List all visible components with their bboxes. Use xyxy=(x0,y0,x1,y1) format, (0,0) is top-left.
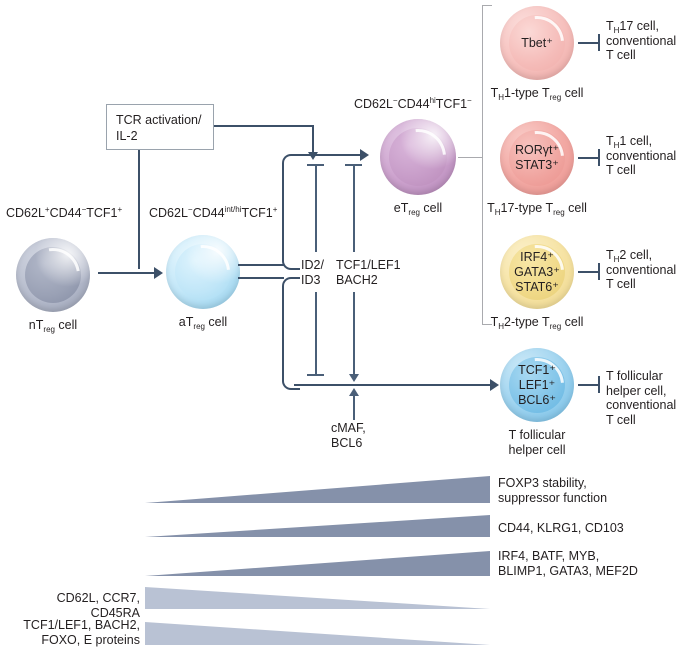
tcf1-bach2-lower-stem xyxy=(353,292,355,376)
tfh-cell-markers: TCF1⁺ LEF1⁺ BCL6⁺ xyxy=(500,348,574,422)
th2-inhibition-cap xyxy=(598,263,600,280)
tcf1-bach2-arrowhead xyxy=(349,374,359,382)
stimulus-line-2: IL-2 xyxy=(116,128,204,144)
tfh-input-arrowhead xyxy=(490,379,499,391)
th1-marker-0: Tbet⁺ xyxy=(521,36,553,51)
stimulus-box: TCR activation/ IL-2 xyxy=(106,104,214,150)
etreg-to-bracket-connector xyxy=(458,157,483,158)
gradient-label-irf4-batf-myb: IRF4, BATF, MYB,BLIMP1, GATA3, MEF2D xyxy=(498,549,683,578)
stimulus-vertical-connector xyxy=(312,125,314,154)
etreg-cell[interactable]: eTreg cell xyxy=(380,119,456,195)
tfh-input-line xyxy=(294,384,494,386)
ntreg-to-atreg-arrowhead xyxy=(154,267,163,279)
cmaf-bcl6-stem xyxy=(353,396,355,420)
etreg-phenotype-text: CD62L−CD44hiTCF1− xyxy=(354,97,472,111)
ntreg-cell-gloss xyxy=(16,238,90,312)
gradient-wedge-cd44-klrg1-cd103 xyxy=(145,512,490,538)
etreg-cell-label: eTreg cell xyxy=(394,201,442,216)
upper-branch-corner xyxy=(282,154,300,270)
gradient-wedge-irf4-batf-myb xyxy=(145,547,490,577)
tfh-cell[interactable]: TCF1⁺ LEF1⁺ BCL6⁺ T follicularhelper cel… xyxy=(500,348,574,422)
th17-suppresses-label: TH1 cell,conventionalT cell xyxy=(606,134,685,178)
ntreg-phenotype-text: CD62L+CD44−TCF1+ xyxy=(6,206,122,220)
etreg-input-arrowhead xyxy=(360,149,369,161)
cmaf-bcl6-arrowhead xyxy=(349,388,359,396)
gradient-label-cd62l-ccr7-cd45ra: CD62L, CCR7, CD45RA xyxy=(5,591,140,620)
ntreg-cell[interactable]: nTreg cell xyxy=(16,238,90,312)
id2-id3-lower-stem xyxy=(315,292,317,376)
tfh-inhibition-shaft xyxy=(578,384,600,386)
id2-id3-lower-inhibit-cap xyxy=(307,374,324,376)
atreg-cell[interactable]: aTreg cell xyxy=(166,235,240,309)
regulator-cmaf-bcl6-label: cMAF, BCL6 xyxy=(331,421,366,450)
regulator-tcf1-bach2-line1: TCF1/LEF1 xyxy=(336,258,401,273)
th17-cell-markers: RORγt⁺ STAT3⁺ xyxy=(500,121,574,195)
regulator-tcf1-bach2-label: TCF1/LEF1 BACH2 xyxy=(336,258,401,287)
gradient-wedge-cd62l-ccr7-cd45ra xyxy=(145,586,490,612)
ntreg-phenotype-label: CD62L+CD44−TCF1+ xyxy=(6,206,122,221)
tfh-inhibition-cap xyxy=(598,376,600,393)
lower-branch-corner xyxy=(282,277,300,390)
tfh-marker-2: BCL6⁺ xyxy=(518,393,556,408)
tfh-marker-0: TCF1⁺ xyxy=(518,363,556,378)
th17-marker-0: RORγt⁺ xyxy=(515,143,559,158)
gradient-label-foxp3-stability: FOXP3 stability,suppressor function xyxy=(498,476,678,505)
th1-cell-markers: Tbet⁺ xyxy=(500,6,574,80)
th2-cell-label: TH2-type Treg cell xyxy=(491,315,584,330)
stimulus-line-1: TCR activation/ xyxy=(116,112,204,128)
tfh-cell-label: T follicularhelper cell xyxy=(509,428,566,457)
etreg-input-line xyxy=(294,154,362,156)
regulator-id2-id3-line1: ID2/ xyxy=(301,258,324,273)
gradient-label-tcf1-bach2-foxo: TCF1/LEF1, BACH2,FOXO, E proteins xyxy=(5,618,140,647)
atreg-phenotype-text: CD62L−CD44int/hiTCF1+ xyxy=(149,206,277,220)
tfh-marker-1: LEF1⁺ xyxy=(519,378,555,393)
atreg-cell-gloss xyxy=(166,235,240,309)
th17-cell-label: TH17-type Treg cell xyxy=(487,201,587,216)
tfh-suppresses-label: T follicularhelper cell,conventionalT ce… xyxy=(606,369,685,427)
th1-suppresses-label: TH17 cell,conventionalT cell xyxy=(606,19,685,63)
ntreg-cell-label: nTreg cell xyxy=(29,318,77,333)
atreg-output-upper-line xyxy=(238,264,284,266)
atreg-phenotype-label: CD62L−CD44int/hiTCF1+ xyxy=(149,206,277,221)
etreg-cell-gloss xyxy=(380,119,456,195)
th1-inhibition-shaft xyxy=(578,42,600,44)
th1-type-treg-cell[interactable]: Tbet⁺ TH1-type Treg cell xyxy=(500,6,574,80)
tcf1-bach2-upper-inhibit-cap xyxy=(345,164,362,166)
regulator-id2-id3-line2: ID3 xyxy=(301,273,324,288)
gradient-wedge-foxp3-stability xyxy=(145,474,490,504)
id2-id3-upper-stem xyxy=(315,166,317,252)
atreg-cell-label: aTreg cell xyxy=(179,315,227,330)
th2-inhibition-shaft xyxy=(578,271,600,273)
th2-suppresses-label: TH2 cell,conventionalT cell xyxy=(606,248,685,292)
th17-inhibition-cap xyxy=(598,149,600,166)
th2-marker-1: GATA3⁺ xyxy=(514,265,560,280)
stimulus-horizontal-connector xyxy=(214,125,314,127)
regulator-cmaf-bcl6-line2: BCL6 xyxy=(331,436,366,451)
th17-inhibition-shaft xyxy=(578,157,600,159)
stimulus-down-connector xyxy=(138,150,140,269)
subtype-bracket-spine xyxy=(482,5,483,325)
id2-id3-upper-inhibit-cap xyxy=(307,164,324,166)
th2-marker-2: STAT6⁺ xyxy=(515,280,559,295)
th2-type-treg-cell[interactable]: IRF4⁺ GATA3⁺ STAT6⁺ TH2-type Treg cell xyxy=(500,235,574,309)
subtype-bracket-top-tick xyxy=(482,5,492,6)
th17-marker-1: STAT3⁺ xyxy=(515,158,559,173)
th2-marker-0: IRF4⁺ xyxy=(520,250,554,265)
th2-cell-markers: IRF4⁺ GATA3⁺ STAT6⁺ xyxy=(500,235,574,309)
regulator-cmaf-bcl6-line1: cMAF, xyxy=(331,421,366,436)
th17-type-treg-cell[interactable]: RORγt⁺ STAT3⁺ TH17-type Treg cell xyxy=(500,121,574,195)
ntreg-to-atreg-arrow-shaft xyxy=(98,272,156,274)
regulator-id2-id3-label: ID2/ ID3 xyxy=(301,258,324,287)
atreg-output-lower-line xyxy=(238,277,284,279)
tcf1-bach2-upper-stem xyxy=(353,166,355,252)
gradient-label-cd44-klrg1-cd103: CD44, KLRG1, CD103 xyxy=(498,521,678,536)
th1-inhibition-cap xyxy=(598,34,600,51)
etreg-phenotype-label: CD62L−CD44hiTCF1− xyxy=(354,97,472,112)
gradient-wedge-tcf1-bach2-foxo xyxy=(145,621,490,649)
regulator-tcf1-bach2-line2: BACH2 xyxy=(336,273,401,288)
th1-cell-label: TH1-type Treg cell xyxy=(491,86,584,101)
